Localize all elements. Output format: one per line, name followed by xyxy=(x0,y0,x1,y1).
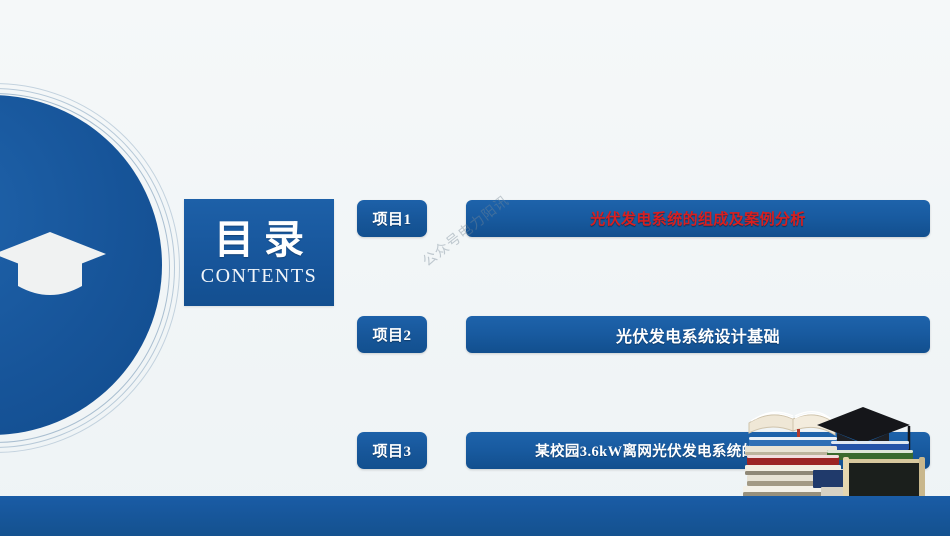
bottom-band-gradient xyxy=(0,496,950,536)
item-tag-label: 项目2 xyxy=(372,324,411,345)
bottom-band xyxy=(0,496,950,536)
item-title-bar-1[interactable]: 光伏发电系统的组成及案例分析 xyxy=(466,200,930,237)
item-tag-1[interactable]: 项目1 xyxy=(357,200,427,237)
item-title-bar-2[interactable]: 光伏发电系统设计基础 xyxy=(466,316,930,353)
item-title-label: 光伏发电系统的组成及案例分析 xyxy=(590,208,806,229)
item-tag-label: 项目3 xyxy=(372,440,411,461)
item-tag-label: 项目1 xyxy=(372,208,411,229)
slide-canvas: 目录 CONTENTS 项目1 光伏发电系统的组成及案例分析 项目2 光伏发电系… xyxy=(0,0,950,536)
item-title-label: 光伏发电系统设计基础 xyxy=(616,323,780,347)
item-tag-2[interactable]: 项目2 xyxy=(357,316,427,353)
item-tag-3[interactable]: 项目3 xyxy=(357,432,427,469)
